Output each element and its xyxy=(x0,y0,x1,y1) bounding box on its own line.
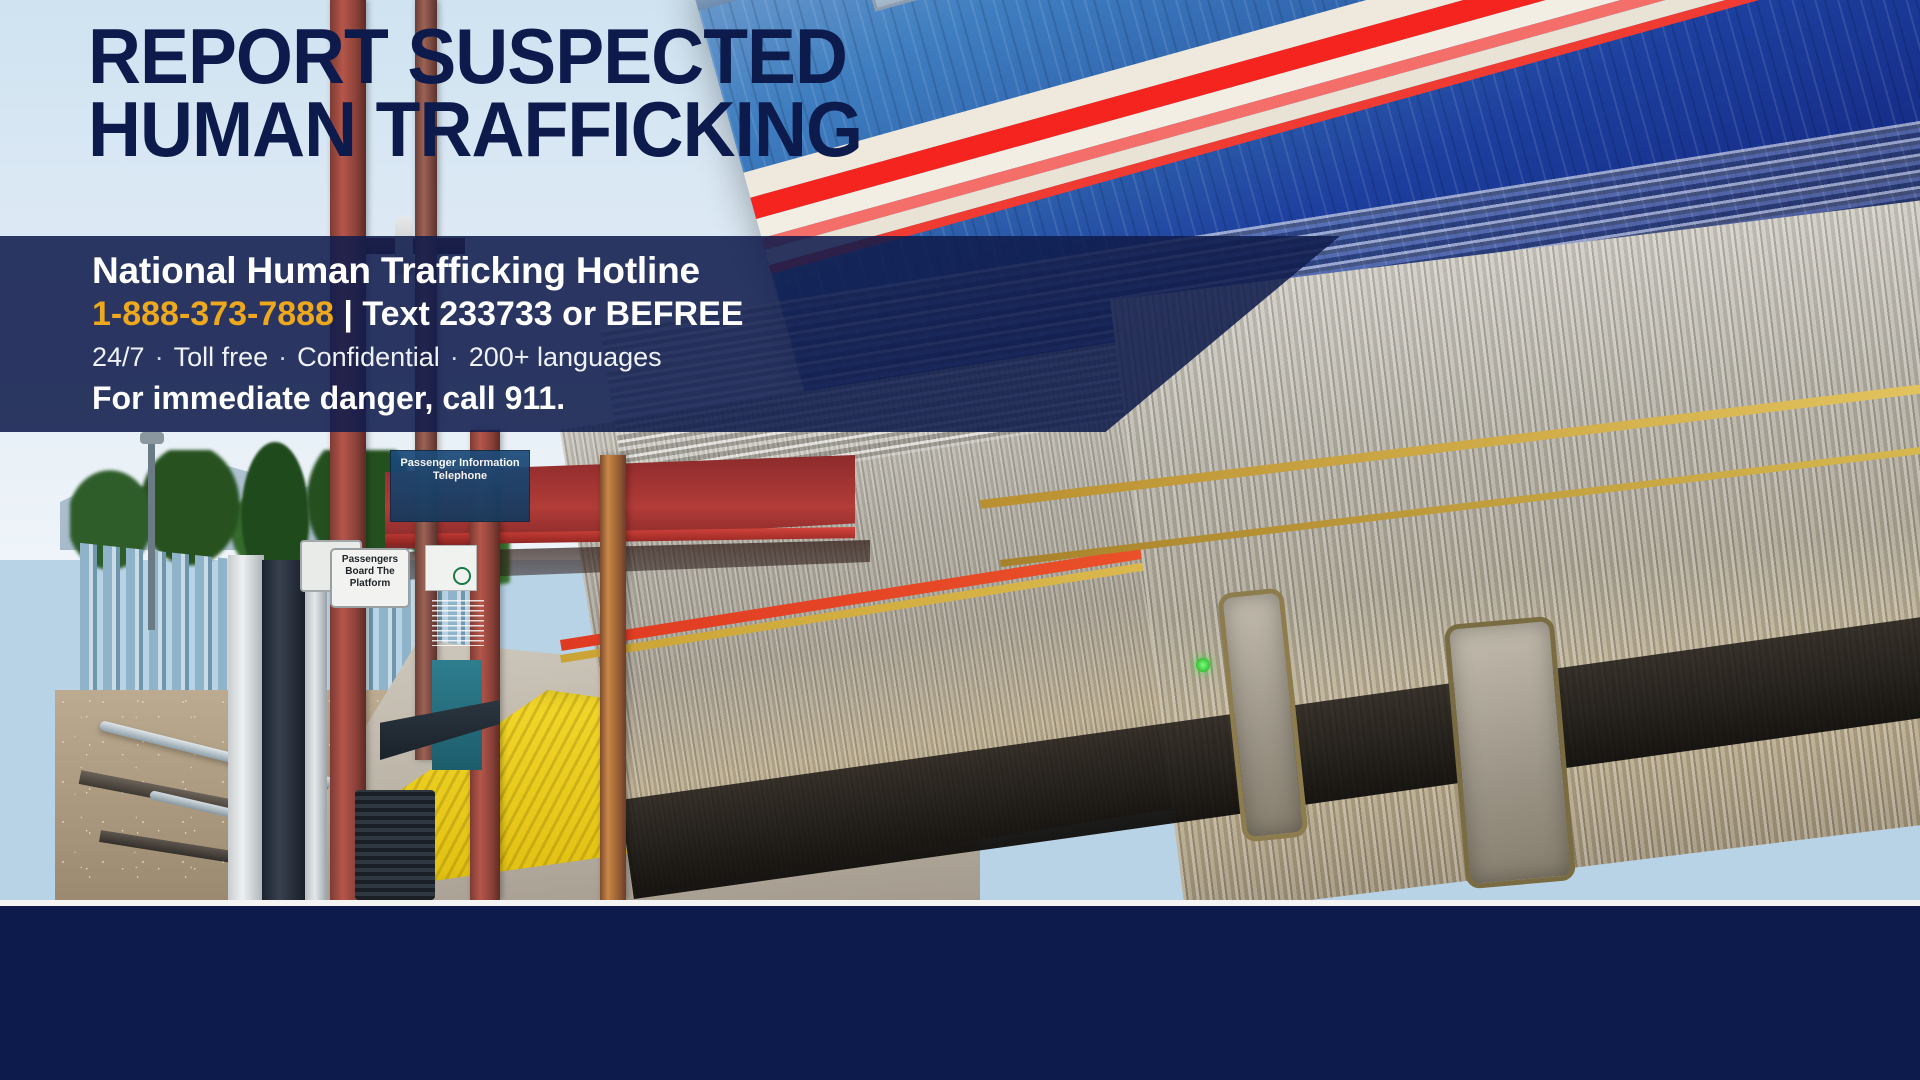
feature-separator-dot: · xyxy=(440,342,469,372)
lamp-head xyxy=(140,432,164,444)
page-title: REPORT SUSPECTED HUMAN TRAFFICKING xyxy=(88,20,1216,165)
feature-item: 24/7 xyxy=(92,342,145,372)
feature-separator-dot: · xyxy=(145,342,174,372)
feature-separator-dot: · xyxy=(268,342,297,372)
sign-pictograms xyxy=(425,545,477,591)
door-status-light xyxy=(1196,658,1210,672)
dark-post xyxy=(262,560,306,900)
footer-bar: LEARN MORE U.S. Department of Transporta… xyxy=(0,906,1920,1080)
steel-post xyxy=(305,560,327,900)
sign-passenger-information: Passenger Information Telephone xyxy=(390,450,530,522)
sign-info-placard xyxy=(432,600,484,646)
rusty-post xyxy=(600,455,626,900)
hotline-name: National Human Trafficking Hotline xyxy=(92,250,1192,291)
trash-receptacle xyxy=(355,790,435,900)
hotline-phone-number[interactable]: 1-888-373-7888 xyxy=(92,295,334,333)
headline-line-1: REPORT SUSPECTED xyxy=(88,20,1216,93)
hotline-text-instruction: Text 233733 or BEFREE xyxy=(362,295,743,333)
hotline-contact-line: 1-888-373-7888 | Text 233733 or BEFREE xyxy=(92,293,1192,336)
steel-post xyxy=(228,555,264,900)
headline-line-2: HUMAN TRAFFICKING xyxy=(88,93,1216,166)
emergency-instruction: For immediate danger, call 911. xyxy=(92,378,1192,418)
contact-separator: | xyxy=(334,295,362,333)
hotline-info-content: National Human Trafficking Hotline 1-888… xyxy=(92,250,1192,418)
lamp-pole xyxy=(148,440,155,630)
feature-item: Confidential xyxy=(297,342,440,372)
railcar-door xyxy=(1444,616,1577,890)
feature-item: Toll free xyxy=(174,342,269,372)
psa-poster: Passenger Information Telephone Passenge… xyxy=(0,0,1920,1080)
feature-item: 200+ languages xyxy=(469,342,662,372)
hotline-features: 24/7·Toll free·Confidential·200+ languag… xyxy=(92,340,1192,375)
sign-passengers-board-platform: Passengers Board The Platform xyxy=(330,548,410,608)
